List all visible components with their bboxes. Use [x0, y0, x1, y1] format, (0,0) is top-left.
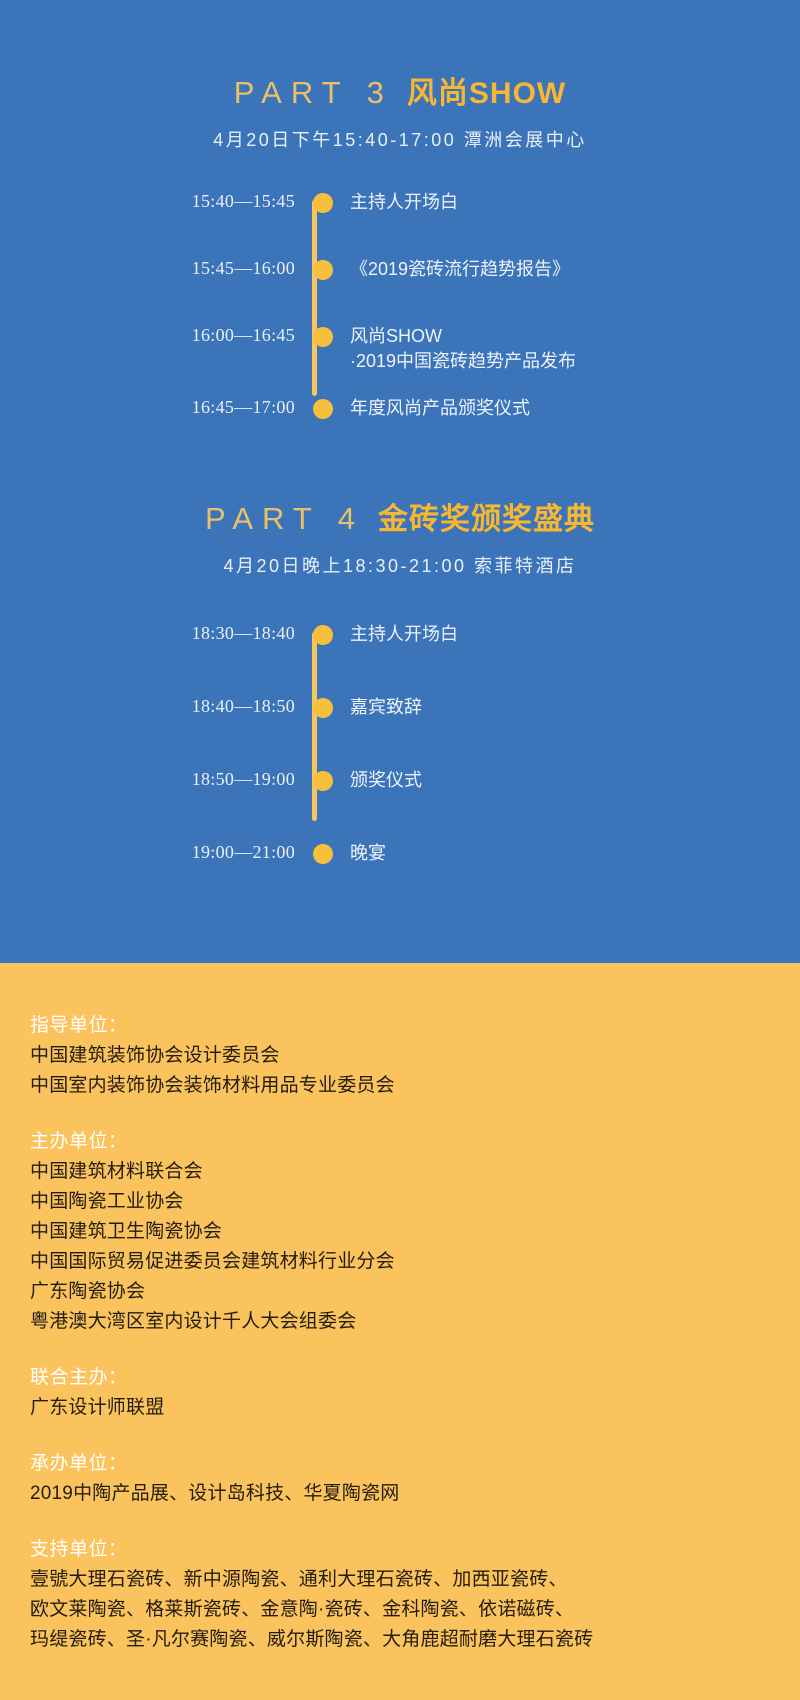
org-heading: 联合主办：: [30, 1363, 770, 1393]
org-group-organizer: 承办单位： 2019中陶产品展、设计岛科技、华夏陶瓷网: [30, 1449, 770, 1509]
org-line: 广东陶瓷协会: [30, 1277, 770, 1307]
timeline-dot-cell: [295, 257, 350, 280]
timeline-dot-icon: [313, 399, 333, 419]
part-3-label: PART 3: [234, 75, 393, 110]
org-group-co-host: 联合主办： 广东设计师联盟: [30, 1363, 770, 1423]
timeline-time: 16:45—17:00: [90, 396, 295, 418]
timeline-dot-cell: [295, 324, 350, 347]
org-heading: 主办单位：: [30, 1127, 770, 1157]
timeline-label: 年度风尚产品颁奖仪式: [350, 396, 530, 421]
timeline-dot-cell: [295, 695, 350, 718]
timeline-dot-cell: [295, 622, 350, 645]
part-4-block: PART 4金砖奖颁奖盛典 4月20日晚上18:30-21:00 索菲特酒店 1…: [0, 494, 800, 852]
part-3-block: PART 3风尚SHOW 4月20日下午15:40-17:00 潭洲会展中心 1…: [0, 68, 800, 420]
part-4-subtitle: 4月20日晚上18:30-21:00 索菲特酒店: [0, 552, 800, 578]
timeline-row: 18:40—18:50 嘉宾致辞: [90, 695, 710, 729]
timeline-label: 主持人开场白: [350, 190, 458, 215]
org-line: 2019中陶产品展、设计岛科技、华夏陶瓷网: [30, 1479, 770, 1509]
org-heading: 承办单位：: [30, 1449, 770, 1479]
organizations-section: 指导单位： 中国建筑装饰协会设计委员会 中国室内装饰协会装饰材料用品专业委员会 …: [0, 963, 800, 1700]
timeline-label-main: 年度风尚产品颁奖仪式: [350, 398, 530, 418]
timeline-dot-icon: [313, 327, 333, 347]
org-line: 中国国际贸易促进委员会建筑材料行业分会: [30, 1247, 770, 1277]
timeline-row: 18:30—18:40 主持人开场白: [90, 622, 710, 656]
timeline-row: 18:50—19:00 颁奖仪式: [90, 768, 710, 802]
timeline-label: 嘉宾致辞: [350, 695, 422, 720]
org-line: 广东设计师联盟: [30, 1393, 770, 1423]
org-line: 中国陶瓷工业协会: [30, 1187, 770, 1217]
timeline-dot-icon: [313, 193, 333, 213]
timeline-row: 16:00—16:45 风尚SHOW ·2019中国瓷砖趋势产品发布: [90, 324, 710, 374]
timeline-label: 颁奖仪式: [350, 768, 422, 793]
timeline-label-sub: ·2019中国瓷砖趋势产品发布: [350, 349, 576, 374]
timeline-dot-cell: [295, 190, 350, 213]
org-line: 中国建筑卫生陶瓷协会: [30, 1217, 770, 1247]
timeline-time: 19:00—21:00: [90, 841, 295, 863]
timeline-dot-icon: [313, 844, 333, 864]
org-line: 壹號大理石瓷砖、新中源陶瓷、通利大理石瓷砖、加西亚瓷砖、: [30, 1565, 770, 1595]
timeline-row: 15:40—15:45 主持人开场白: [90, 190, 710, 224]
timeline-label: 风尚SHOW ·2019中国瓷砖趋势产品发布: [350, 324, 576, 374]
timeline-time: 18:30—18:40: [90, 622, 295, 644]
org-group-host: 主办单位： 中国建筑材料联合会 中国陶瓷工业协会 中国建筑卫生陶瓷协会 中国国际…: [30, 1127, 770, 1337]
timeline-label-main: 主持人开场白: [350, 624, 458, 644]
timeline-dot-icon: [313, 771, 333, 791]
timeline-label: 晚宴: [350, 841, 386, 866]
timeline-label-main: 风尚SHOW: [350, 326, 442, 346]
timeline-time: 15:45—16:00: [90, 257, 295, 279]
timeline-label-main: 颁奖仪式: [350, 770, 422, 790]
part-3-timeline: 15:40—15:45 主持人开场白 15:45—16:00 《2019瓷砖流行…: [90, 190, 710, 420]
org-group-guidance: 指导单位： 中国建筑装饰协会设计委员会 中国室内装饰协会装饰材料用品专业委员会: [30, 1011, 770, 1101]
part-4-timeline: 18:30—18:40 主持人开场白 18:40—18:50 嘉宾致辞 18:5…: [90, 622, 710, 852]
part-4-label: PART 4: [205, 501, 364, 536]
event-agenda-poster: PART 3风尚SHOW 4月20日下午15:40-17:00 潭洲会展中心 1…: [0, 0, 800, 1700]
schedule-section: PART 3风尚SHOW 4月20日下午15:40-17:00 潭洲会展中心 1…: [0, 0, 800, 963]
org-heading: 指导单位：: [30, 1011, 770, 1041]
timeline-row: 19:00—21:00 晚宴: [90, 841, 710, 875]
part-4-name: 金砖奖颁奖盛典: [378, 503, 595, 536]
timeline-label-main: 晚宴: [350, 843, 386, 863]
timeline-dot-icon: [313, 260, 333, 280]
timeline-row: 15:45—16:00 《2019瓷砖流行趋势报告》: [90, 257, 710, 291]
part-3-subtitle: 4月20日下午15:40-17:00 潭洲会展中心: [0, 126, 800, 152]
org-line: 中国建筑装饰协会设计委员会: [30, 1041, 770, 1071]
org-line: 中国室内装饰协会装饰材料用品专业委员会: [30, 1071, 770, 1101]
org-line: 粤港澳大湾区室内设计千人大会组委会: [30, 1307, 770, 1337]
part-3-title: PART 3风尚SHOW: [0, 68, 800, 112]
org-line: 中国建筑材料联合会: [30, 1157, 770, 1187]
part-3-name: 风尚SHOW: [407, 77, 566, 110]
timeline-label-main: 主持人开场白: [350, 192, 458, 212]
timeline-time: 15:40—15:45: [90, 190, 295, 212]
timeline-time: 18:50—19:00: [90, 768, 295, 790]
timeline-dot-icon: [313, 698, 333, 718]
timeline-dot-cell: [295, 768, 350, 791]
org-heading: 支持单位：: [30, 1535, 770, 1565]
timeline-dot-cell: [295, 396, 350, 419]
timeline-label-main: 嘉宾致辞: [350, 697, 422, 717]
timeline-row: 16:45—17:00 年度风尚产品颁奖仪式: [90, 396, 710, 430]
timeline-time: 18:40—18:50: [90, 695, 295, 717]
timeline-label-main: 《2019瓷砖流行趋势报告》: [350, 259, 570, 279]
org-line: 玛缇瓷砖、圣·凡尔赛陶瓷、威尔斯陶瓷、大角鹿超耐磨大理石瓷砖: [30, 1625, 770, 1655]
timeline-label: 主持人开场白: [350, 622, 458, 647]
timeline-dot-icon: [313, 625, 333, 645]
timeline-label: 《2019瓷砖流行趋势报告》: [350, 257, 570, 282]
org-line: 欧文莱陶瓷、格莱斯瓷砖、金意陶·瓷砖、金科陶瓷、依诺磁砖、: [30, 1595, 770, 1625]
timeline-time: 16:00—16:45: [90, 324, 295, 346]
org-group-supporters: 支持单位： 壹號大理石瓷砖、新中源陶瓷、通利大理石瓷砖、加西亚瓷砖、 欧文莱陶瓷…: [30, 1535, 770, 1655]
part-4-title: PART 4金砖奖颁奖盛典: [0, 494, 800, 538]
timeline-dot-cell: [295, 841, 350, 864]
